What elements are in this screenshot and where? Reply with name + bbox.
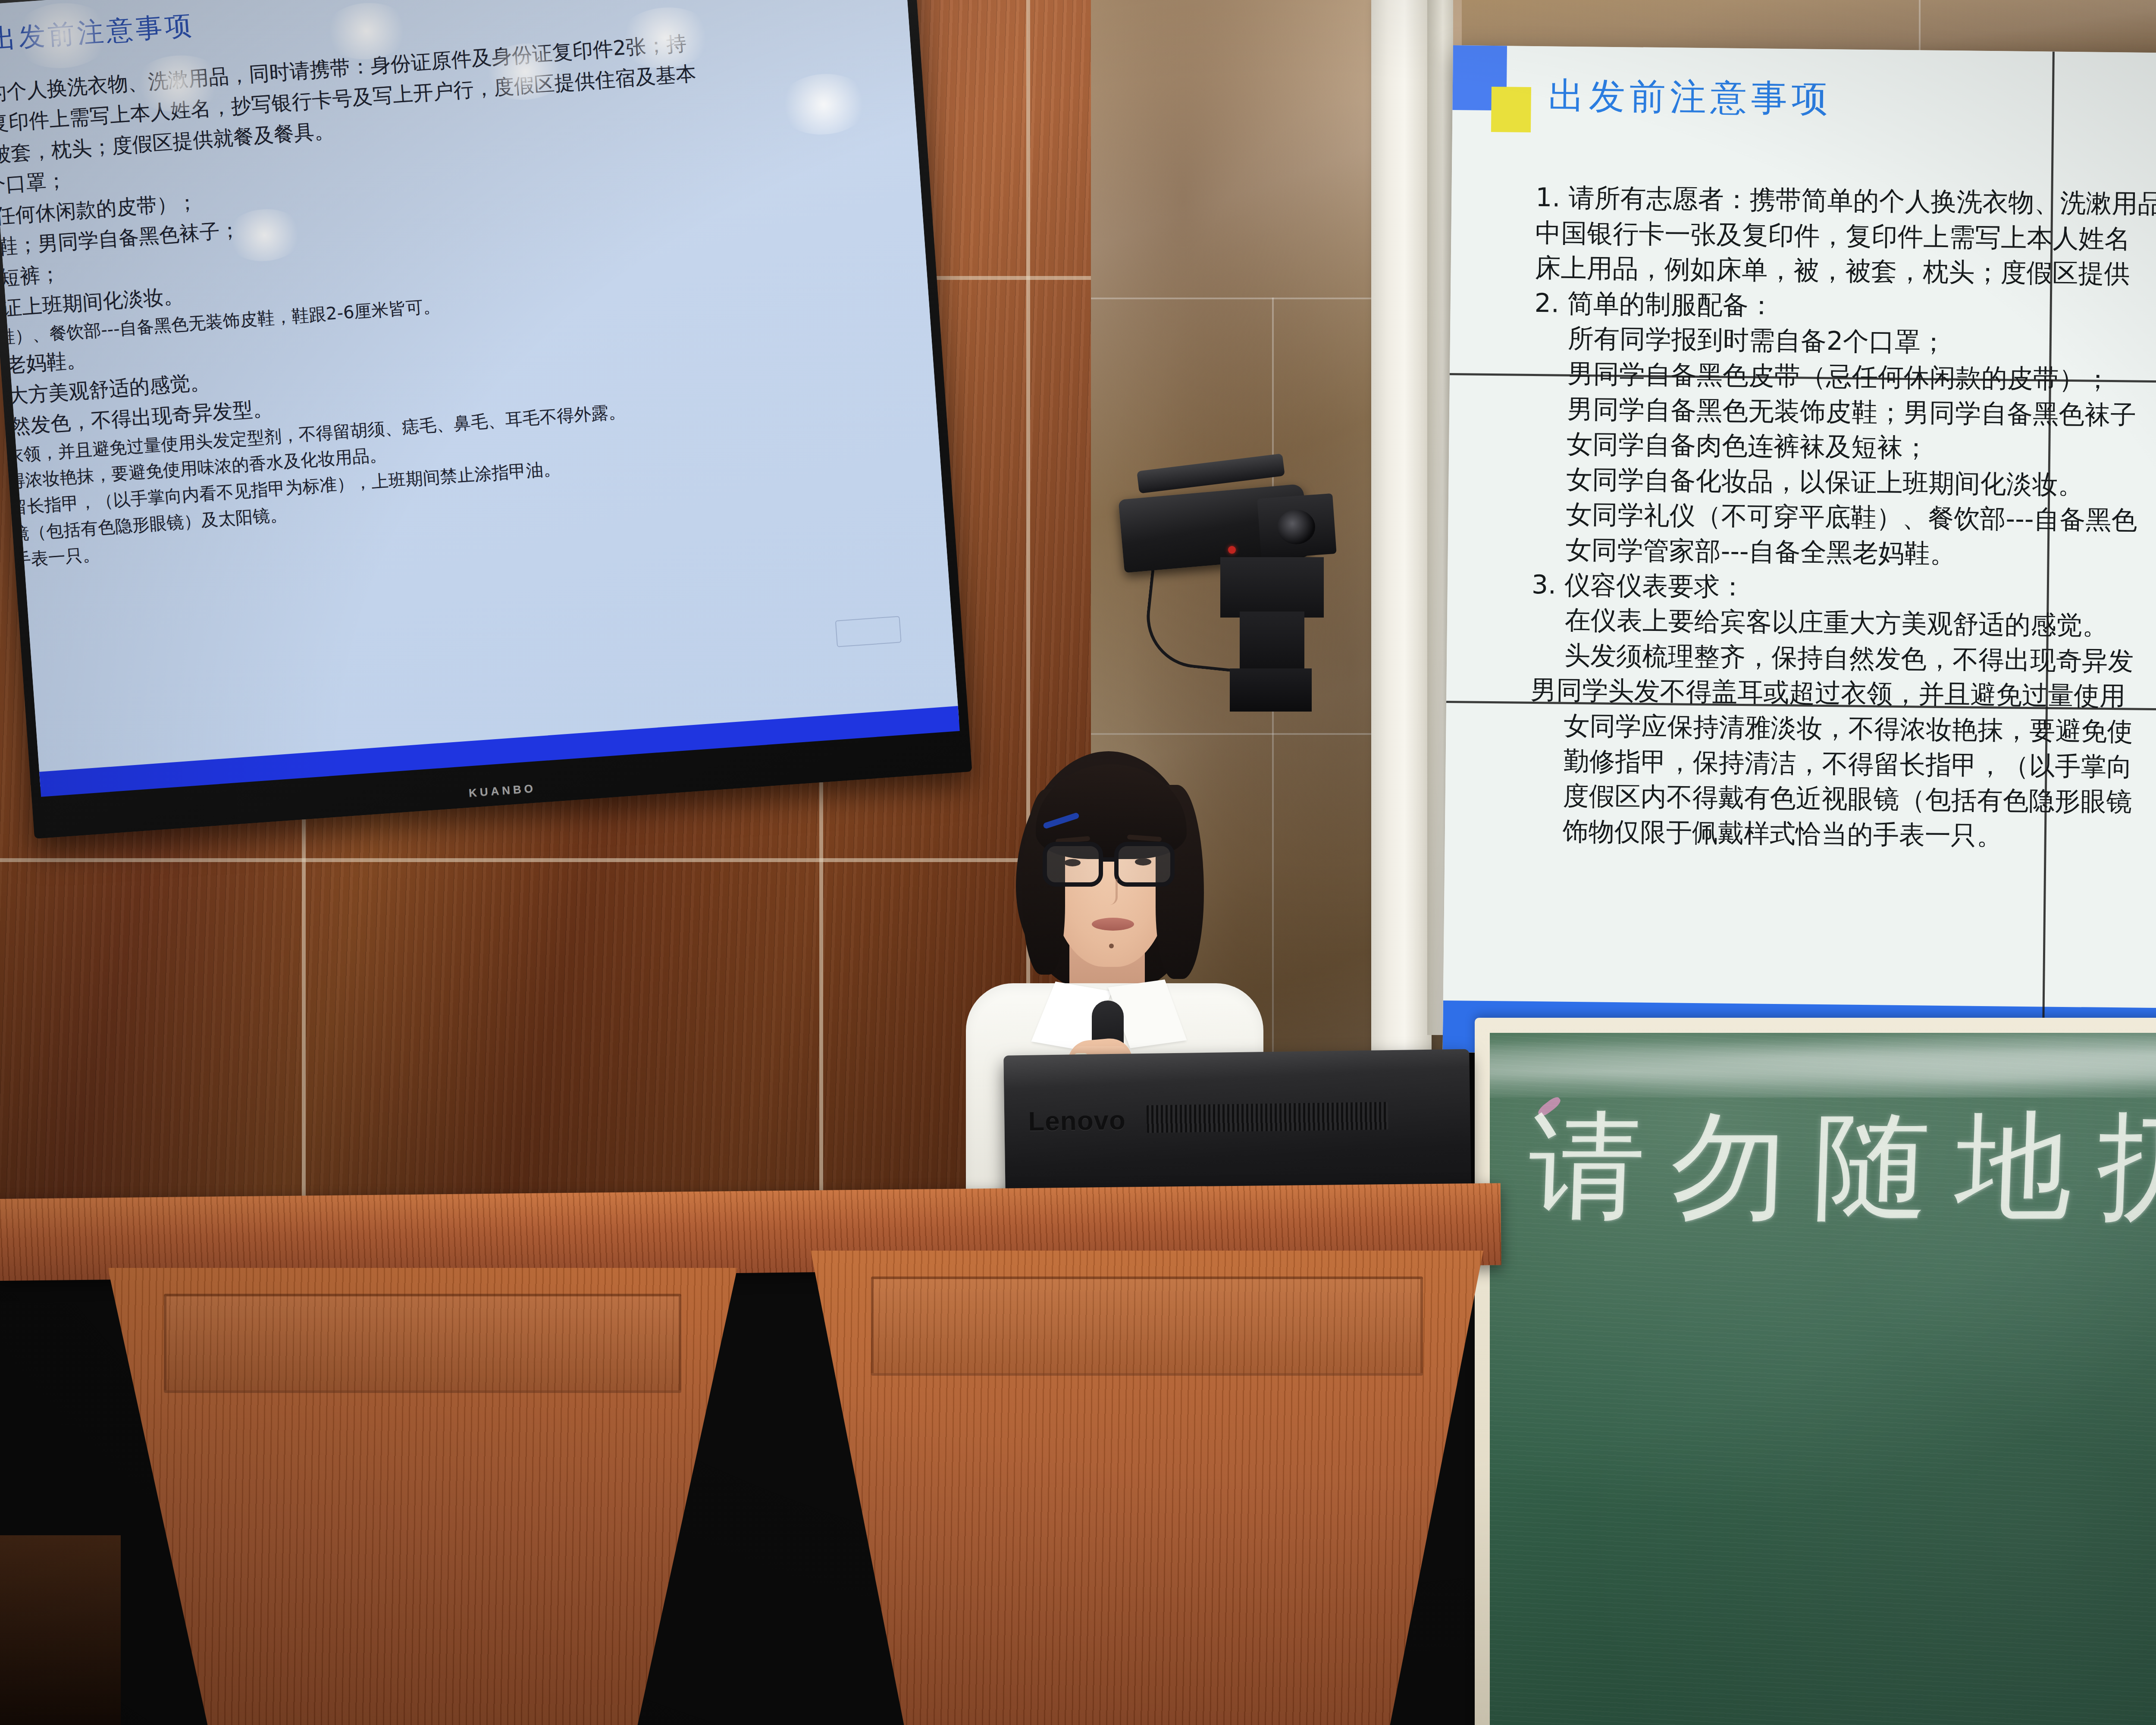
nose	[1103, 879, 1118, 905]
podium-panel	[164, 1294, 681, 1393]
laptop-brand-logo: Lenovo	[1028, 1105, 1126, 1137]
podium-left-column	[108, 1268, 737, 1725]
tv-slide-body: 简单的个人换洗衣物、洗漱用品，同时请携带：身份证原件及身份证复印件2张；持 件，…	[0, 13, 924, 576]
glasses-lens-left	[1043, 842, 1103, 887]
floor-shadow	[0, 1535, 121, 1725]
slide-body: 1. 请所有志愿者：携带简单的个人换洗衣物、洗漱用品 中国银行卡一张及复印件，复…	[1529, 180, 2156, 859]
face-mole	[1109, 944, 1114, 948]
video-wall-right: 出发前注意事项 1. 请所有志愿者：携带简单的个人换洗衣物、洗漱用品 中国银行卡…	[1443, 45, 2156, 1064]
camera-lens	[1277, 510, 1315, 544]
camera-mount-middle	[1240, 612, 1304, 676]
slide-decoration-yellow-square	[1491, 87, 1531, 132]
glasses-lens-right	[1114, 842, 1175, 887]
camera-rec-indicator-icon	[1228, 546, 1236, 554]
wall-grout-line	[0, 858, 1091, 862]
wall-mounted-camera	[1117, 444, 1341, 720]
laptop-vent-grille	[1147, 1102, 1388, 1133]
slide-line: 饰物仅限于佩戴样式恰当的手表一只。	[1529, 813, 2156, 859]
wall-tv-left: 出发前注意事项 简单的个人换洗衣物、洗漱用品，同时请携带：身份证原件及身份证复印…	[0, 0, 972, 839]
tv-watermark	[835, 616, 902, 647]
classroom-photo-scene: 出发前注意事项 简单的个人换洗衣物、洗漱用品，同时请携带：身份证原件及身份证复印…	[0, 0, 2156, 1725]
camera-mount-base	[1230, 668, 1312, 712]
tv-slide: 出发前注意事项 简单的个人换洗衣物、洗漱用品，同时请携带：身份证原件及身份证复印…	[0, 0, 959, 787]
chalkboard: 请勿随地扔垃圾	[1490, 1033, 2156, 1725]
camera-mount-upper	[1220, 557, 1324, 618]
podium-right-column	[811, 1251, 1483, 1725]
slide-title: 出发前注意事项	[1548, 71, 1832, 123]
chalk-dust-smear	[1490, 1033, 2156, 1098]
podium-panel	[871, 1276, 1423, 1376]
tv-screen: 出发前注意事项 简单的个人换洗衣物、洗漱用品，同时请携带：身份证原件及身份证复印…	[0, 0, 959, 787]
pink-chalk-mark	[1536, 1095, 1563, 1118]
glasses-bridge	[1103, 857, 1117, 862]
mouth	[1092, 918, 1134, 931]
chalkboard-text: 请勿随地扔垃圾	[1526, 1089, 2156, 1246]
